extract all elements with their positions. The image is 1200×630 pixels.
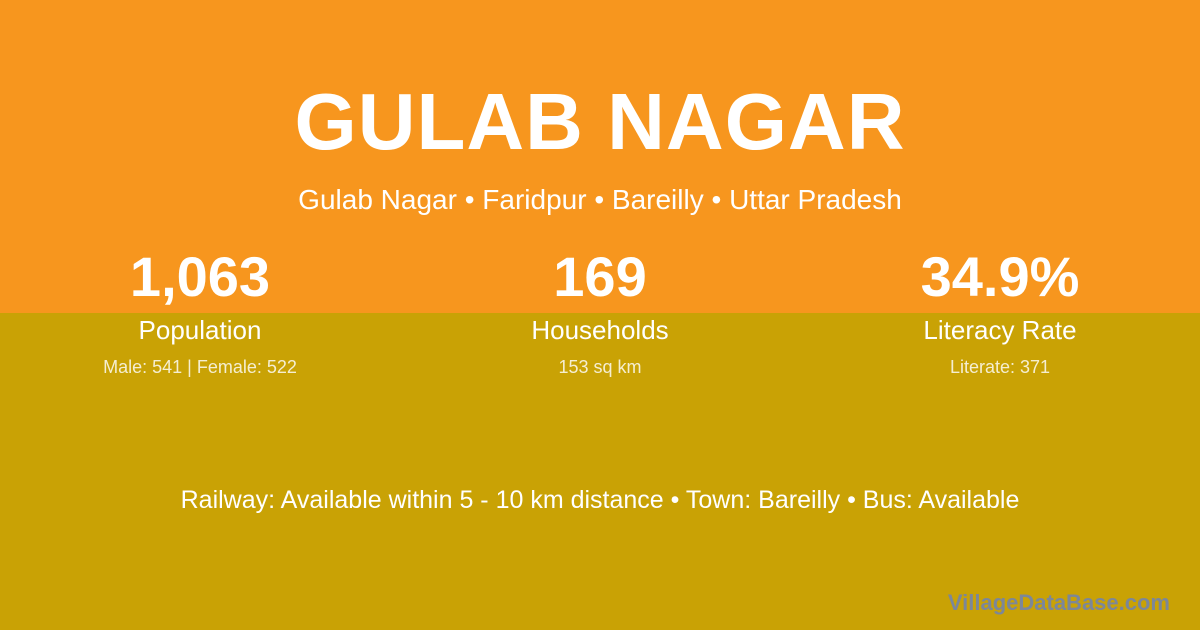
- village-info-card: GULAB NAGAR Gulab Nagar • Faridpur • Bar…: [0, 0, 1200, 630]
- stat-population-sub: Male: 541 | Female: 522: [0, 357, 400, 379]
- stat-households: 169 Households 153 sq km: [400, 248, 800, 379]
- facilities-line: Railway: Available within 5 - 10 km dist…: [0, 485, 1200, 516]
- stat-households-sub: 153 sq km: [400, 357, 800, 379]
- page-title: GULAB NAGAR: [0, 82, 1200, 162]
- stat-households-label: Households: [400, 315, 800, 346]
- breadcrumb: Gulab Nagar • Faridpur • Bareilly • Utta…: [0, 183, 1200, 217]
- stat-population: 1,063 Population Male: 541 | Female: 522: [0, 248, 400, 379]
- card-content: GULAB NAGAR Gulab Nagar • Faridpur • Bar…: [0, 0, 1200, 630]
- stat-literacy-rate-value: 34.9%: [800, 248, 1200, 307]
- site-logo: VillageDataBase.com: [948, 590, 1170, 616]
- stat-households-value: 169: [400, 248, 800, 307]
- stat-population-value: 1,063: [0, 248, 400, 307]
- stat-literacy-rate-label: Literacy Rate: [800, 315, 1200, 346]
- stat-literacy-rate-sub: Literate: 371: [800, 357, 1200, 379]
- stats-row: 1,063 Population Male: 541 | Female: 522…: [0, 248, 1200, 379]
- stat-literacy-rate: 34.9% Literacy Rate Literate: 371: [800, 248, 1200, 379]
- stat-population-label: Population: [0, 315, 400, 346]
